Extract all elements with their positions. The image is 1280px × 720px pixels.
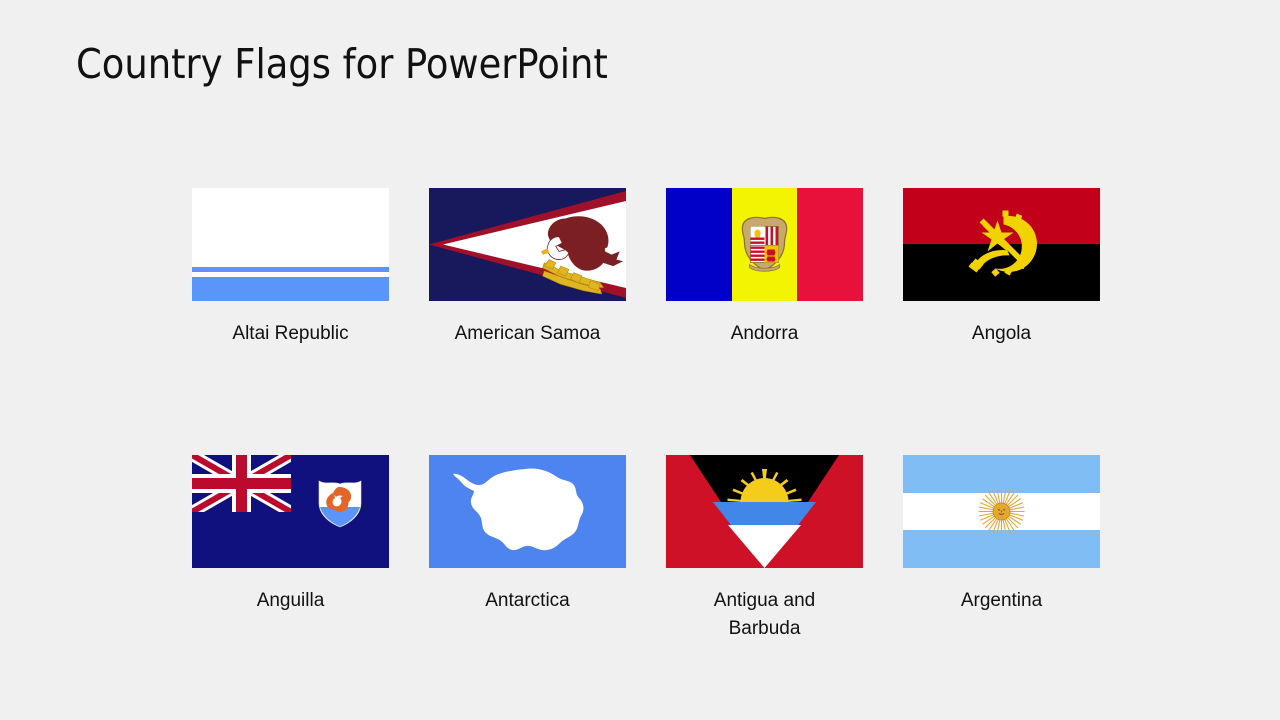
flag-label-anguilla: Anguilla	[206, 587, 376, 615]
flag-label-andorra: Andorra	[680, 320, 850, 348]
flag-cell-altai-republic[interactable]: Altai Republic	[172, 188, 409, 348]
flag-label-altai-republic: Altai Republic	[206, 320, 376, 348]
flag-cell-andorra[interactable]: Andorra	[646, 188, 883, 348]
flag-row-1: Altai Republic	[172, 188, 1120, 348]
flag-altai-republic-icon[interactable]	[192, 188, 389, 301]
flag-label-antigua-and-barbuda: Antigua and Barbuda	[680, 587, 850, 643]
flag-anguilla-icon[interactable]	[192, 455, 389, 568]
page-title: Country Flags for PowerPoint	[76, 40, 608, 88]
flag-cell-angola[interactable]: Angola	[883, 188, 1120, 348]
flag-angola-icon[interactable]	[903, 188, 1100, 301]
flag-cell-antigua-and-barbuda[interactable]: Antigua and Barbuda	[646, 455, 883, 643]
flag-cell-anguilla[interactable]: Anguilla	[172, 455, 409, 643]
flag-label-antarctica: Antarctica	[443, 587, 613, 615]
flag-cell-american-samoa[interactable]: American Samoa	[409, 188, 646, 348]
flag-antarctica-icon[interactable]	[429, 455, 626, 568]
flag-american-samoa-icon[interactable]	[429, 188, 626, 301]
flag-label-american-samoa: American Samoa	[443, 320, 613, 348]
flag-argentina-icon[interactable]	[903, 455, 1100, 568]
flag-antigua-and-barbuda-icon[interactable]	[666, 455, 863, 568]
flag-row-2: Anguilla Antarctica	[172, 455, 1120, 643]
flag-grid: Altai Republic	[172, 188, 1120, 643]
flag-cell-argentina[interactable]: Argentina	[883, 455, 1120, 643]
flag-label-angola: Angola	[917, 320, 1087, 348]
slide-canvas: Country Flags for PowerPoint Altai Repub…	[0, 0, 1280, 720]
flag-label-argentina: Argentina	[917, 587, 1087, 615]
flag-cell-antarctica[interactable]: Antarctica	[409, 455, 646, 643]
flag-andorra-icon[interactable]	[666, 188, 863, 301]
